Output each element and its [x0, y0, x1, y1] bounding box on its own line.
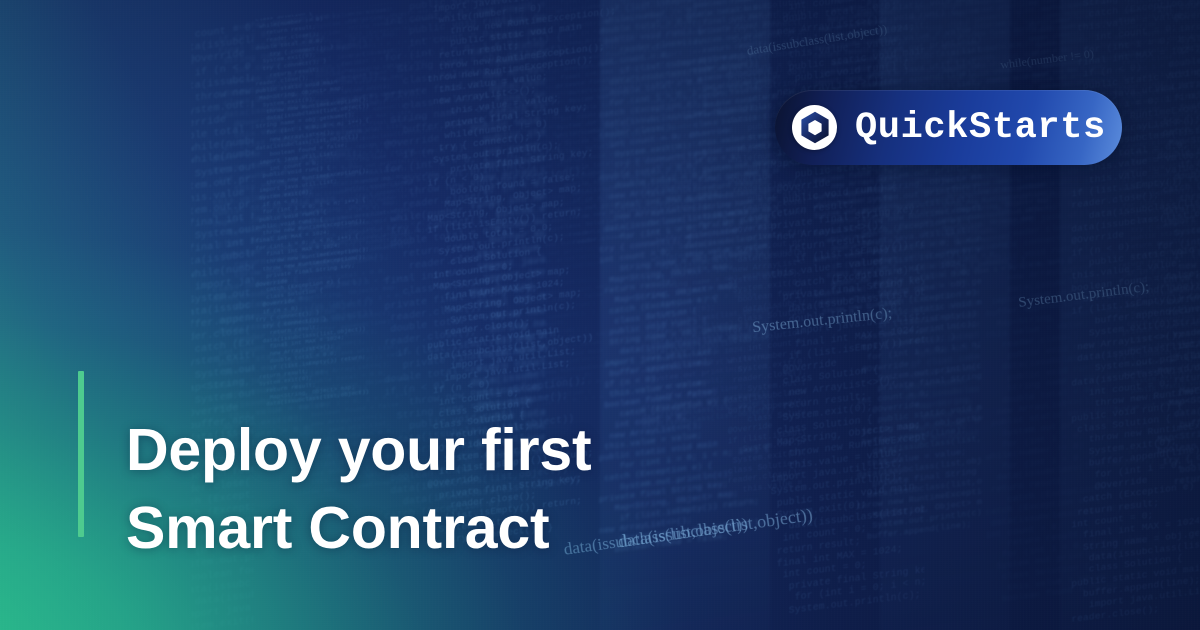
page-title: Deploy your first Smart Contract [126, 411, 591, 567]
quickstarts-banner: Map<String, Object> map; final int MAX =… [0, 0, 1200, 630]
accent-bar [78, 371, 84, 537]
badge-label: QuickStarts [855, 107, 1106, 149]
quickstarts-badge[interactable]: QuickStarts [775, 90, 1122, 165]
page-title-line-1: Deploy your first [126, 411, 591, 489]
page-title-line-2: Smart Contract [126, 489, 591, 567]
chainlink-hexagon-icon [792, 105, 837, 150]
headline-block: Deploy your first Smart Contract [78, 371, 591, 606]
